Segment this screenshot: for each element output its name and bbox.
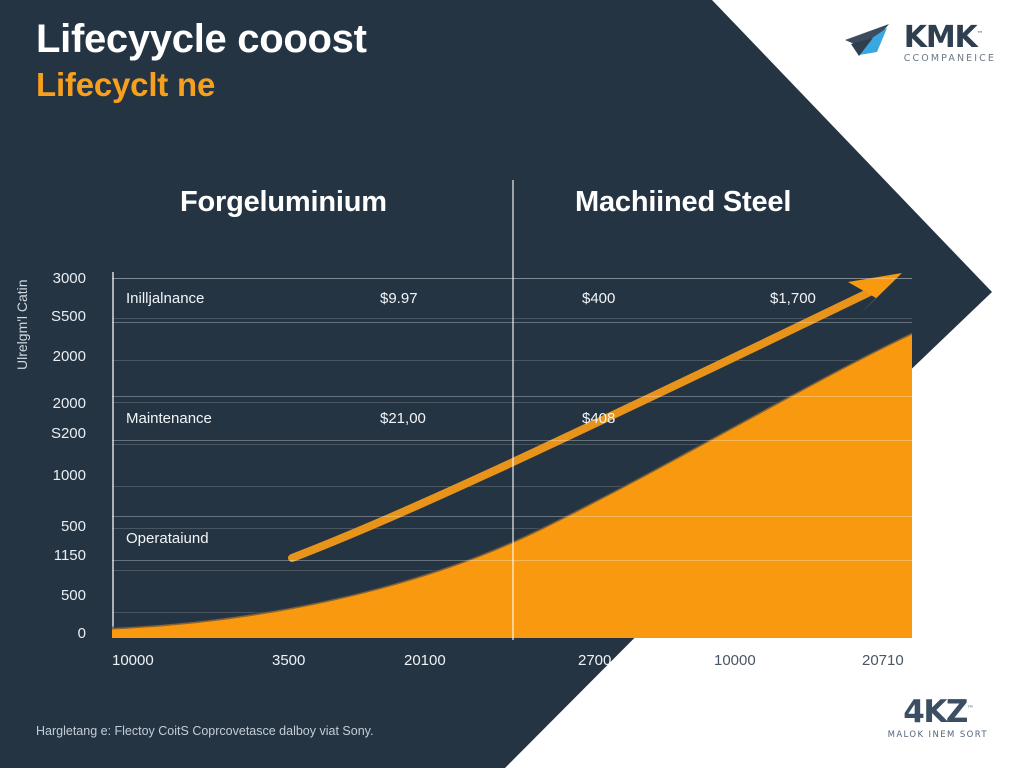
x-tick-0: 10000	[112, 652, 154, 669]
y-tick-3: 2000	[53, 395, 86, 412]
column-header-machined-steel: Machiined Steel	[575, 186, 791, 219]
page-subtitle: Lifecyclt ne	[36, 66, 367, 104]
y-tick-5: 1000	[53, 467, 86, 484]
x-tick-4: 10000	[714, 652, 756, 669]
column-headers: Forgeluminium Machiined Steel	[112, 186, 912, 238]
y-tick-7: 1150	[54, 547, 86, 564]
x-axis-tick-labels: 10000 3500 20100 2700 10000 20710	[0, 652, 1024, 680]
column-divider	[512, 180, 514, 640]
kmk-logo: KMK™ CCOMPANEICE	[843, 22, 996, 64]
y-tick-1: S500	[51, 308, 86, 325]
kmk-tagline: CCOMPANEICE	[904, 54, 996, 64]
trend-arrow-head-icon	[848, 273, 902, 314]
y-tick-2: 2000	[53, 348, 86, 365]
column-header-forgeluminium: Forgeluminium	[180, 186, 387, 219]
title-block: Lifecyycle cooost Lifecyclt ne	[36, 18, 367, 104]
y-tick-6: 500	[61, 518, 86, 535]
x-tick-2: 20100	[404, 652, 446, 669]
trend-arrow	[112, 240, 922, 640]
y-axis-title: Ulrelgm'l Catin	[14, 279, 30, 370]
kmk-swoosh-icon	[843, 22, 899, 64]
slide-canvas: Lifecyycle cooost Lifecyclt ne KMK™ CCOM…	[0, 0, 1024, 768]
footnote: Hargletang e: Flectoy CoitS Coprcovetasc…	[36, 724, 373, 738]
y-tick-4: S200	[51, 425, 86, 442]
y-tick-0: 3000	[53, 270, 86, 287]
trend-arrow-line	[292, 290, 874, 558]
y-tick-9: 0	[78, 625, 86, 642]
4kz-name: 4KZ™	[888, 697, 988, 728]
kmk-wordmark: KMK™ CCOMPANEICE	[904, 23, 996, 64]
x-tick-5: 20710	[862, 652, 904, 669]
kmk-name: KMK™	[904, 23, 996, 53]
4kz-logo: 4KZ™ MALOK INEM SORT	[888, 697, 988, 740]
page-title: Lifecyycle cooost	[36, 18, 367, 60]
4kz-trademark-icon: ™	[967, 705, 973, 713]
x-tick-3: 2700	[578, 652, 611, 669]
kmk-trademark-icon: ™	[977, 30, 983, 38]
x-tick-1: 3500	[272, 652, 305, 669]
y-tick-8: 500	[61, 587, 86, 604]
4kz-tagline: MALOK INEM SORT	[888, 730, 988, 740]
